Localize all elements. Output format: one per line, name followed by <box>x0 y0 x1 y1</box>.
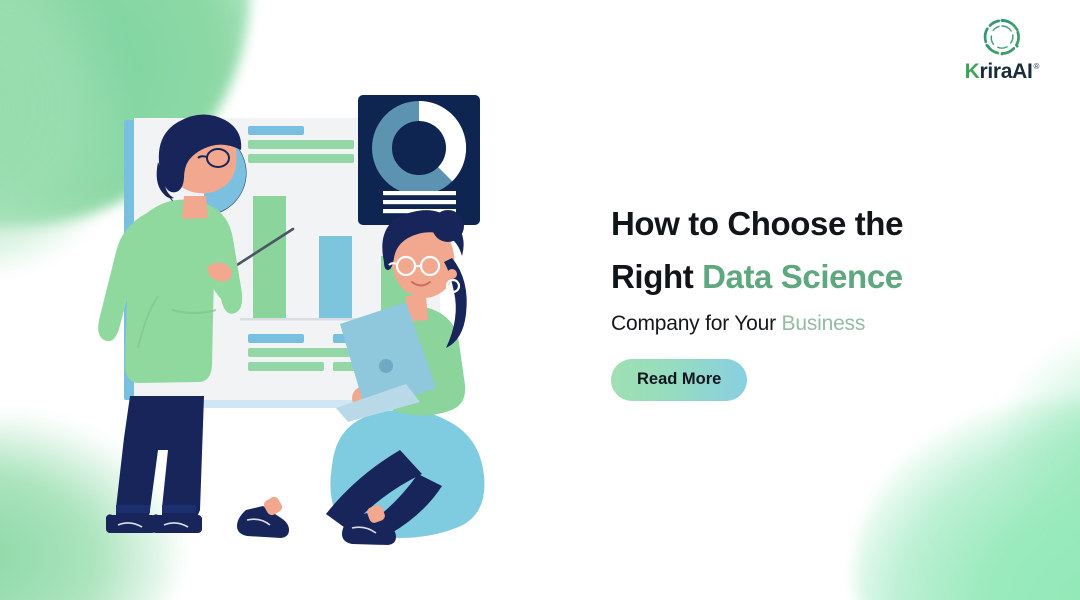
hero-banner: KriraAI ® <box>0 0 1080 600</box>
subtitle-plain: Company for Your <box>611 312 782 335</box>
kriraai-ring-icon <box>979 14 1025 60</box>
subtitle-accent: Business <box>782 312 866 335</box>
page-title: How to Choose the Right Data Science <box>611 198 1011 304</box>
brand-logo[interactable]: KriraAI ® <box>956 14 1048 82</box>
hair-bun <box>432 210 464 242</box>
registered-trademark-icon: ® <box>1034 63 1040 71</box>
brand-wordmark: KriraAI ® <box>956 61 1048 82</box>
shoe-front <box>237 506 289 538</box>
headline-line-2-plain: Right <box>611 258 702 295</box>
laptop-logo <box>379 359 393 373</box>
read-more-button[interactable]: Read More <box>611 359 747 401</box>
hero-copy: How to Choose the Right Data Science Com… <box>611 198 1011 401</box>
background-blob-bottom-right <box>855 400 1080 600</box>
brand-name-rest: riraAI <box>979 60 1032 83</box>
brand-name-prefix: K <box>965 60 980 83</box>
background-blob-bottom-right-2 <box>1000 330 1080 530</box>
donut-card-lines <box>383 191 456 213</box>
headline-line-1: How to Choose the <box>611 205 903 242</box>
headline-line-2-accent: Data Science <box>702 258 903 295</box>
donut-chart-card <box>358 95 480 225</box>
data-analytics-team-illustration <box>100 78 520 538</box>
page-subtitle: Company for Your Business <box>611 310 1011 337</box>
